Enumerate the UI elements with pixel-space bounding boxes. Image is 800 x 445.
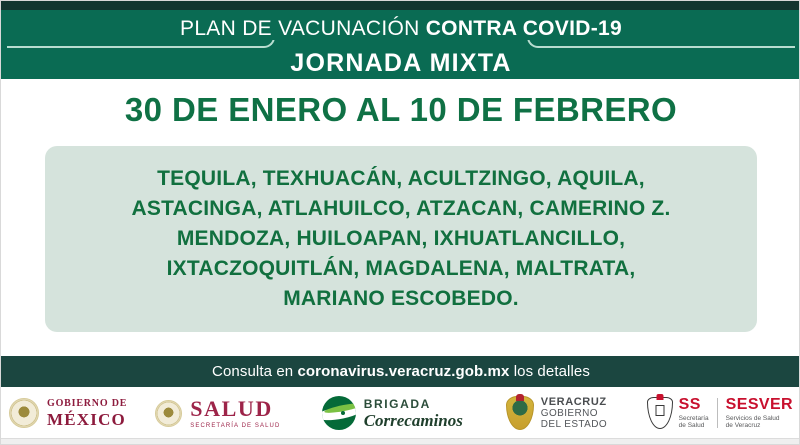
roadrunner-bird-icon — [322, 396, 356, 430]
mexican-eagle-seal-icon — [9, 398, 39, 428]
brigada-line1: BRIGADA — [364, 398, 463, 410]
gobierno-line2: MÉXICO — [47, 411, 127, 428]
logo-brigada-correcaminos: BRIGADA Correcaminos — [322, 396, 463, 430]
website-url[interactable]: coronavirus.veracruz.gob.mx — [297, 363, 509, 380]
brigada-line2: Correcaminos — [364, 412, 463, 429]
municipality-line: ASTACINGA, ATLAHUILCO, ATZACAN, CAMERINO… — [132, 194, 671, 224]
vaccination-plan-poster: PLAN DE VACUNACIÓN CONTRA COVID-19 JORNA… — [0, 0, 800, 445]
logo-ss-secretaria-salud: SS Secretaría de Salud — [647, 397, 709, 430]
veracruz-line1: VERACRUZ — [541, 396, 607, 408]
consulta-bar: Consulta en coronavirus.veracruz.gob.mx … — [1, 356, 800, 387]
sesver-label: SESVER Servicios de Salud de Veracruz — [726, 397, 793, 430]
shield-inner-mark — [655, 405, 664, 416]
header-banner: PLAN DE VACUNACIÓN CONTRA COVID-19 JORNA… — [1, 10, 800, 79]
bottom-edge-strip — [1, 438, 800, 444]
salud-line1: SALUD — [190, 398, 280, 420]
municipality-list-box: TEQUILA, TEXHUACÁN, ACULTZINGO, AQUILA, … — [45, 146, 757, 332]
consulta-prefix: Consulta en — [212, 363, 297, 380]
logo-veracruz-gobierno: VERACRUZ GOBIERNO DEL ESTADO — [506, 396, 607, 431]
campaign-date-range: 30 DE ENERO AL 10 DE FEBRERO — [125, 91, 677, 129]
ss-line3: de Salud — [679, 423, 709, 430]
title-highlight: CONTRA COVID-19 — [426, 17, 622, 40]
page-title: PLAN DE VACUNACIÓN CONTRA COVID-19 — [1, 15, 800, 42]
municipality-list: TEQUILA, TEXHUACÁN, ACULTZINGO, AQUILA, … — [118, 164, 685, 314]
brigada-label: BRIGADA Correcaminos — [364, 398, 463, 429]
salud-label: SALUD SECRETARÍA DE SALUD — [190, 398, 280, 429]
municipality-line: MARIANO ESCOBEDO. — [132, 284, 671, 314]
sesver-line1: SESVER — [726, 397, 793, 413]
bird-eye-dot — [341, 411, 345, 415]
salud-line2: SECRETARÍA DE SALUD — [190, 423, 280, 429]
salud-seal-icon — [155, 400, 182, 427]
consulta-suffix: los detalles — [509, 363, 590, 380]
veracruz-line2: GOBIERNO — [541, 408, 607, 419]
top-accent-strip — [1, 1, 800, 10]
date-band: 30 DE ENERO AL 10 DE FEBRERO — [1, 79, 800, 141]
gobierno-line1: GOBIERNO DE — [47, 399, 127, 409]
veracruz-coat-of-arms-icon — [506, 396, 534, 430]
municipality-line: IXTACZOQUITLÁN, MAGDALENA, MALTRATA, — [132, 254, 671, 284]
ss-label: SS Secretaría de Salud — [679, 397, 709, 430]
ss-line1: SS — [679, 397, 709, 413]
sesver-line3: de Veracruz — [726, 423, 793, 430]
logo-gobierno-de-mexico: GOBIERNO DE MÉXICO — [9, 398, 127, 428]
veracruz-line3: DEL ESTADO — [541, 419, 607, 430]
municipality-line: MENDOZA, HUILOAPAN, IXHUATLANCILLO, — [132, 224, 671, 254]
municipality-line: TEQUILA, TEXHUACÁN, ACULTZINGO, AQUILA, — [132, 164, 671, 194]
ss-shield-icon — [647, 397, 673, 429]
logo-divider — [717, 398, 718, 428]
logo-sesver: SESVER Servicios de Salud de Veracruz — [726, 397, 793, 430]
veracruz-label: VERACRUZ GOBIERNO DEL ESTADO — [541, 396, 607, 431]
logo-bar: GOBIERNO DE MÉXICO SALUD SECRETARÍA DE S… — [1, 387, 800, 439]
page-subtitle: JORNADA MIXTA — [1, 47, 800, 79]
consulta-text: Consulta en coronavirus.veracruz.gob.mx … — [212, 363, 590, 380]
gobierno-label: GOBIERNO DE MÉXICO — [47, 399, 127, 428]
title-prefix: PLAN DE VACUNACIÓN — [180, 17, 426, 40]
logo-salud: SALUD SECRETARÍA DE SALUD — [155, 398, 280, 429]
